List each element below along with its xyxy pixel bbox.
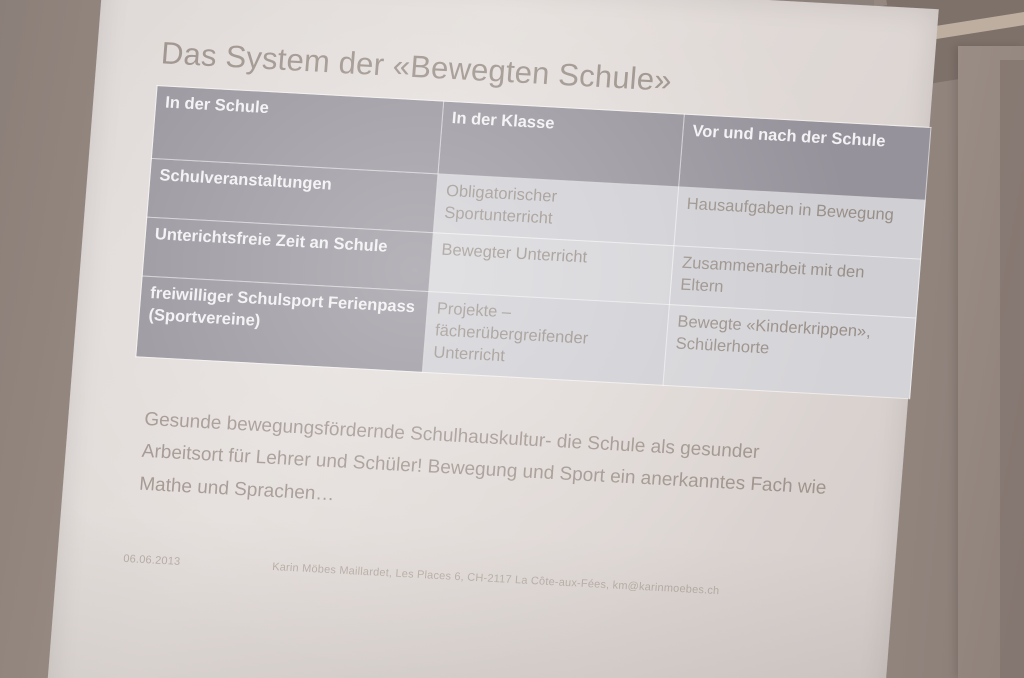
slide-footer: 06.06.2013 Karin Möbes Maillardet, Les P… [119,552,859,604]
slide-paragraph: Gesunde bewegungsfördernde Schulhauskult… [138,403,835,538]
presentation-slide: Das System der «Bewegten Schule» In der … [109,35,900,678]
cell-projekte-faecheruebergreifender-unterricht: Projekte – fächerübergreifender Unterric… [422,291,669,385]
table-header-in-der-klasse: In der Klasse [438,101,684,187]
footer-credit: Karin Möbes Maillardet, Les Places 6, CH… [272,561,720,597]
system-table: In der Schule In der Klasse Vor und nach… [135,85,931,399]
cell-freiwilliger-schulsport: freiwilliger Schulsport Ferienpass (Spor… [136,276,429,372]
cell-bewegte-kinderkrippen-schuelerhorte: Bewegte «Kinderkrippen», Schülerhorte [663,304,916,398]
projection-screen: Das System der «Bewegten Schule» In der … [44,0,938,678]
footer-date: 06.06.2013 [123,553,181,568]
projection-screen-area: Das System der «Bewegten Schule» In der … [0,0,1024,678]
table-header-vor-und-nach-der-schule: Vor und nach der Schule [679,114,931,200]
